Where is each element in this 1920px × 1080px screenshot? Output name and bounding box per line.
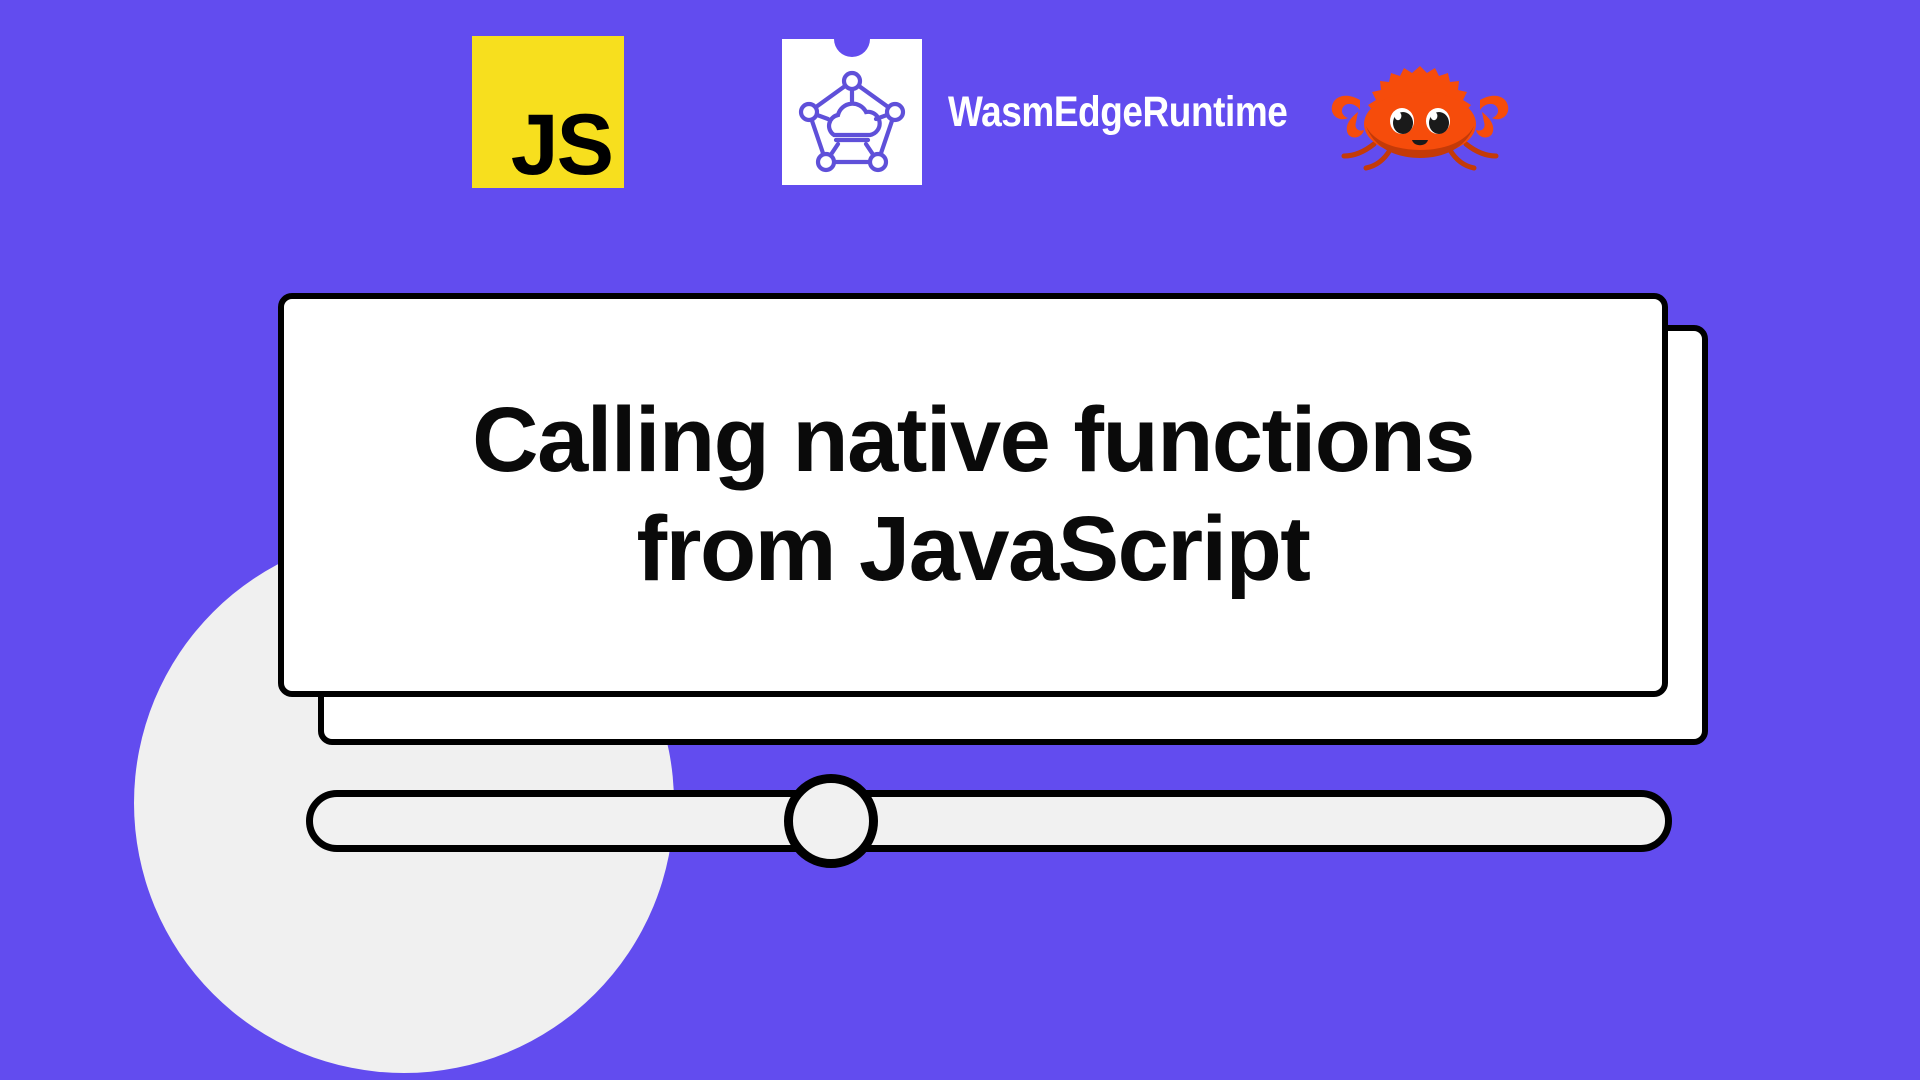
slider-thumb[interactable]	[784, 774, 878, 868]
progress-slider[interactable]	[306, 790, 1672, 852]
title-card: Calling native functions from JavaScript	[278, 293, 1668, 697]
rust-ferris-crab-icon	[1330, 48, 1510, 178]
page-title-line-2: from JavaScript	[472, 495, 1474, 604]
page-title: Calling native functions from JavaScript	[432, 386, 1514, 603]
slide-canvas: JS	[0, 0, 1920, 1080]
wasmedge-logo: WasmEdgeRuntime	[782, 36, 1343, 188]
slider-track[interactable]	[306, 790, 1672, 852]
page-title-line-1: Calling native functions	[472, 386, 1474, 495]
javascript-logo-label: JS	[511, 109, 612, 182]
wasmedge-pentagon-cloud-icon	[782, 39, 922, 185]
logo-row: JS	[0, 30, 1920, 180]
javascript-logo: JS	[472, 36, 624, 188]
wasmedge-wordmark: WasmEdgeRuntime	[948, 88, 1287, 137]
